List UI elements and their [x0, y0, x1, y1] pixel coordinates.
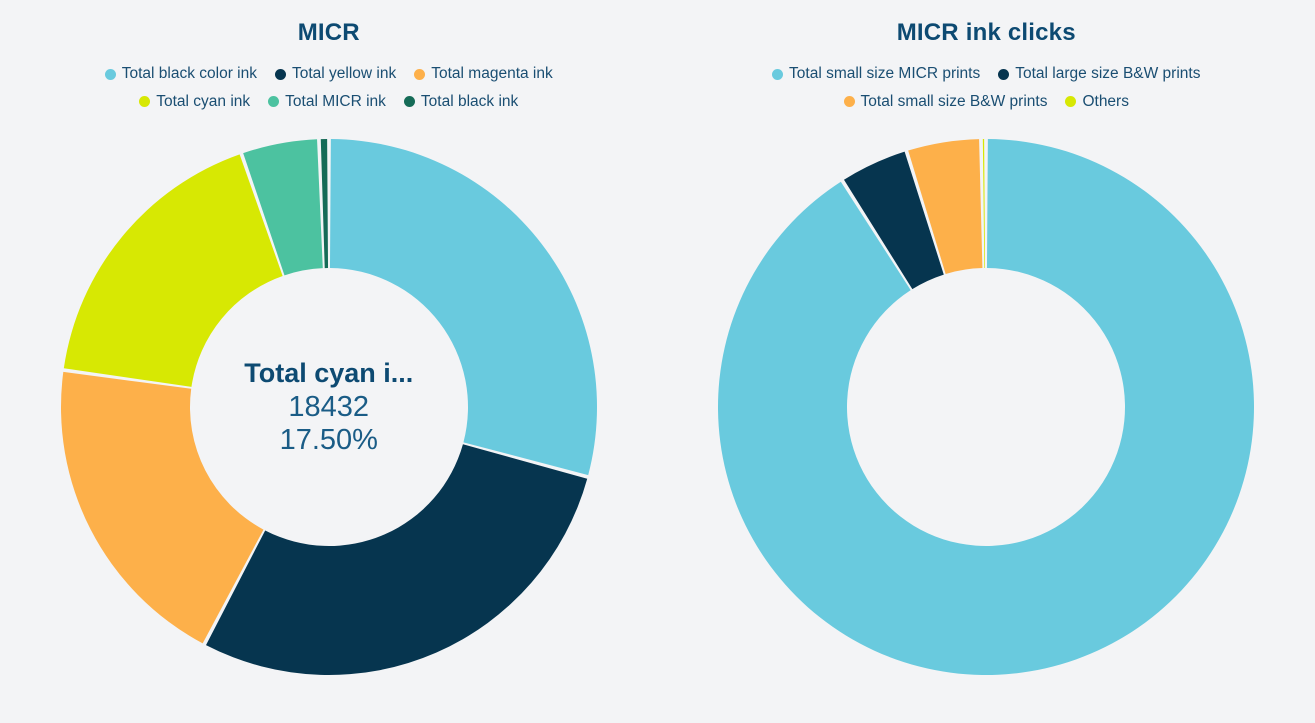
legend-item[interactable]: Total cyan ink	[139, 90, 250, 113]
legend-item[interactable]: Total black color ink	[105, 62, 257, 85]
legend-swatch-icon	[998, 69, 1009, 80]
legend-item[interactable]: Total small size B&W prints	[844, 90, 1048, 113]
legend-item-label: Total black color ink	[122, 62, 257, 85]
legend-swatch-icon	[1065, 96, 1076, 107]
donut-chart-micr[interactable]	[49, 127, 609, 687]
page-title-micr-ink-clicks: MICR ink clicks	[897, 20, 1076, 46]
legend-swatch-icon	[268, 96, 279, 107]
donut-chart-dashboard: MICR Total black color inkTotal yellow i…	[0, 0, 1315, 723]
legend-item[interactable]: Total small size MICR prints	[772, 62, 980, 85]
donut-wrap-micr: Total cyan i... 18432 17.50%	[49, 127, 609, 687]
legend-swatch-icon	[772, 69, 783, 80]
legend-micr: Total black color inkTotal yellow inkTot…	[69, 62, 589, 113]
donut-slice[interactable]	[64, 154, 283, 387]
legend-item-label: Total small size B&W prints	[861, 90, 1048, 113]
donut-slice[interactable]	[983, 139, 985, 268]
donut-slice[interactable]	[206, 444, 587, 675]
legend-item-label: Total small size MICR prints	[789, 62, 980, 85]
legend-item[interactable]: Total yellow ink	[275, 62, 396, 85]
legend-micr-ink-clicks: Total small size MICR printsTotal large …	[726, 62, 1246, 113]
donut-slice[interactable]	[330, 139, 597, 475]
legend-item[interactable]: Total black ink	[404, 90, 518, 113]
legend-item[interactable]: Total large size B&W prints	[998, 62, 1200, 85]
legend-item-label: Total cyan ink	[156, 90, 250, 113]
legend-item[interactable]: Total magenta ink	[414, 62, 553, 85]
legend-swatch-icon	[404, 96, 415, 107]
legend-item[interactable]: Others	[1065, 90, 1129, 113]
legend-swatch-icon	[105, 69, 116, 80]
legend-item-label: Total yellow ink	[292, 62, 396, 85]
legend-swatch-icon	[414, 69, 425, 80]
legend-swatch-icon	[139, 96, 150, 107]
chart-panel-micr-ink-clicks: MICR ink clicks Total small size MICR pr…	[658, 0, 1315, 723]
legend-item-label: Total magenta ink	[431, 62, 553, 85]
chart-panel-micr: MICR Total black color inkTotal yellow i…	[0, 0, 658, 723]
legend-item[interactable]: Total MICR ink	[268, 90, 386, 113]
donut-slice[interactable]	[718, 139, 1254, 675]
legend-swatch-icon	[275, 69, 286, 80]
legend-item-label: Total black ink	[421, 90, 518, 113]
legend-item-label: Total MICR ink	[285, 90, 386, 113]
donut-chart-micr-ink-clicks[interactable]	[706, 127, 1266, 687]
legend-swatch-icon	[844, 96, 855, 107]
legend-item-label: Others	[1082, 90, 1129, 113]
page-title-micr: MICR	[298, 20, 360, 46]
donut-wrap-micr-ink-clicks	[706, 127, 1266, 687]
legend-item-label: Total large size B&W prints	[1015, 62, 1200, 85]
